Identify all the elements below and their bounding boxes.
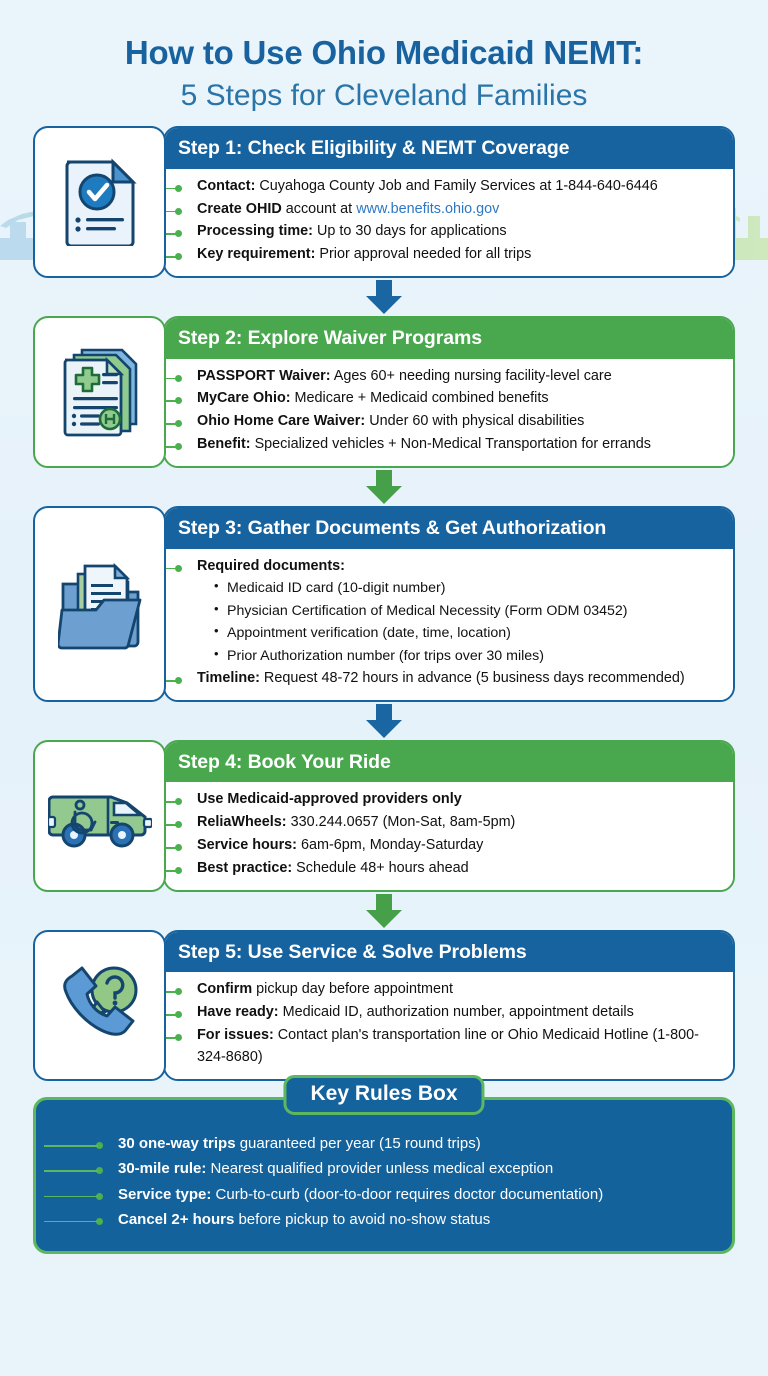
step-4-bullet-label: ReliaWheels:: [197, 814, 287, 830]
step-1-bullet-item: Processing time: Up to 30 days for appli…: [169, 221, 723, 243]
step-1-body: Contact: Cuyahoga County Job and Family …: [165, 169, 733, 277]
step-1-bullet-list: Contact: Cuyahoga County Job and Family …: [169, 176, 723, 267]
step-2-bullet-item: MyCare Ohio: Medicare + Medicaid combine…: [169, 388, 723, 410]
step-3-header: Step 3: Gather Documents & Get Authoriza…: [165, 508, 733, 548]
step-4-bullet-text: 6am-6pm, Monday-Saturday: [297, 837, 483, 853]
step-4-bullet-label: Use Medicaid-approved providers only: [197, 791, 462, 807]
key-rules-title: Key Rules Box: [283, 1075, 484, 1115]
step-1: Step 1: Check Eligibility & NEMT Coverag…: [33, 126, 735, 278]
step-4-body: Use Medicaid-approved providers onlyReli…: [165, 782, 733, 890]
step-5-bullet-label: Have ready:: [197, 1004, 279, 1020]
step-4-card: Step 4: Book Your RideUse Medicaid-appro…: [163, 740, 735, 892]
key-rules-bullet-list: 30 one-way trips guaranteed per year (15…: [50, 1132, 718, 1232]
step-2-bullet-label: MyCare Ohio:: [197, 390, 291, 406]
steps-list: Step 1: Check Eligibility & NEMT Coverag…: [0, 126, 768, 1081]
step-2-header: Step 2: Explore Waiver Programs: [165, 318, 733, 358]
step-5-bullet-label: For issues:: [197, 1027, 274, 1043]
step-1-bullet-label: Key requirement:: [197, 246, 315, 262]
key-rules-bullet-item: 30 one-way trips guaranteed per year (15…: [50, 1132, 718, 1156]
step-1-card: Step 1: Check Eligibility & NEMT Coverag…: [163, 126, 735, 278]
step-5-bullet-item: Have ready: Medicaid ID, authorization n…: [169, 1002, 723, 1024]
key-rules-bullet-label: 30 one-way trips: [118, 1135, 236, 1152]
step-2-bullet-item: Ohio Home Care Waiver: Under 60 with phy…: [169, 411, 723, 433]
step-3-bullet-list: Required documents:Medicaid ID card (10-…: [169, 556, 723, 691]
step-2-bullet-label: Benefit:: [197, 436, 251, 452]
sub-bullet-item: Prior Authorization number (for trips ov…: [214, 645, 723, 667]
document-check-icon: [63, 158, 137, 246]
arrow-step1-to-step2: [33, 278, 735, 316]
step-3-bullet-text: Request 48-72 hours in advance (5 busine…: [260, 670, 685, 686]
step-1-bullet-text: account at: [282, 201, 356, 217]
down-arrow-icon: [362, 894, 406, 928]
phone-question-icon: [57, 962, 143, 1048]
step-5-body: Confirm pickup day before appointmentHav…: [165, 972, 733, 1079]
step-4-icon-tile: [33, 740, 166, 892]
step-5-card: Step 5: Use Service & Solve ProblemsConf…: [163, 930, 735, 1081]
step-2-bullet-text: Under 60 with physical disabilities: [365, 413, 584, 429]
step-5-header: Step 5: Use Service & Solve Problems: [165, 932, 733, 972]
step-1-bullet-item: Contact: Cuyahoga County Job and Family …: [169, 176, 723, 198]
sub-bullet-item: Medicaid ID card (10-digit number): [214, 577, 723, 599]
step-1-header: Step 1: Check Eligibility & NEMT Coverag…: [165, 128, 733, 168]
key-rules-bullet-item: Service type: Curb-to-curb (door-to-door…: [50, 1183, 718, 1207]
page-subtitle: 5 Steps for Cleveland Families: [0, 76, 768, 115]
accessible-van-icon: [48, 781, 152, 851]
sub-bullet-list: Medicaid ID card (10-digit number)Physic…: [214, 577, 723, 667]
page-title-block: How to Use Ohio Medicaid NEMT: 5 Steps f…: [0, 0, 768, 115]
arrow-step4-to-step5: [33, 892, 735, 930]
step-2-card: Step 2: Explore Waiver ProgramsPASSPORT …: [163, 316, 735, 468]
key-rules-bullet-item: 30-mile rule: Nearest qualified provider…: [50, 1157, 718, 1181]
step-1-bullet-link[interactable]: www.benefits.ohio.gov: [356, 201, 499, 217]
step-5-bullet-list: Confirm pickup day before appointmentHav…: [169, 979, 723, 1069]
step-4-bullet-item: Service hours: 6am-6pm, Monday-Saturday: [169, 835, 723, 857]
step-4-bullet-text: Schedule 48+ hours ahead: [292, 860, 468, 876]
step-3-bullet-item: Required documents:Medicaid ID card (10-…: [169, 556, 723, 668]
step-3-bullet-label: Timeline:: [197, 670, 260, 686]
key-rules-bullet-text: Curb-to-curb (door-to-door requires doct…: [211, 1186, 603, 1203]
step-5-bullet-text: Medicaid ID, authorization number, appoi…: [279, 1004, 634, 1020]
down-arrow-icon: [362, 704, 406, 738]
step-2-bullet-text: Ages 60+ needing nursing facility-level …: [331, 368, 612, 384]
step-4-bullet-item: ReliaWheels: 330.244.0657 (Mon-Sat, 8am-…: [169, 812, 723, 834]
step-4-bullet-label: Service hours:: [197, 837, 297, 853]
step-2-bullet-item: PASSPORT Waiver: Ages 60+ needing nursin…: [169, 366, 723, 388]
step-1-icon-tile: [33, 126, 166, 278]
step-1-bullet-label: Processing time:: [197, 223, 313, 239]
step-1-bullet-item: Key requirement: Prior approval needed f…: [169, 244, 723, 266]
step-2: Step 2: Explore Waiver ProgramsPASSPORT …: [33, 316, 735, 468]
key-rules-bullet-item: Cancel 2+ hours before pickup to avoid n…: [50, 1208, 718, 1232]
step-4-bullet-label: Best practice:: [197, 860, 292, 876]
down-arrow-icon: [362, 280, 406, 314]
step-2-body: PASSPORT Waiver: Ages 60+ needing nursin…: [165, 359, 733, 467]
arrow-step2-to-step3: [33, 468, 735, 506]
key-rules-bullet-text: Nearest qualified provider unless medica…: [206, 1160, 553, 1177]
step-2-bullet-list: PASSPORT Waiver: Ages 60+ needing nursin…: [169, 366, 723, 457]
step-4-bullet-item: Best practice: Schedule 48+ hours ahead: [169, 858, 723, 880]
step-5-bullet-item: Confirm pickup day before appointment: [169, 979, 723, 1001]
step-5-bullet-label: Confirm: [197, 981, 252, 997]
key-rules-section: Key Rules Box 30 one-way trips guarantee…: [33, 1097, 735, 1254]
step-4-bullet-item: Use Medicaid-approved providers only: [169, 789, 723, 811]
step-2-bullet-label: PASSPORT Waiver:: [197, 368, 331, 384]
step-2-bullet-text: Specialized vehicles + Non-Medical Trans…: [251, 436, 651, 452]
folder-documents-icon: [58, 556, 142, 652]
step-1-bullet-label: Create OHID: [197, 201, 282, 217]
step-5-bullet-item: For issues: Contact plan's transportatio…: [169, 1025, 723, 1069]
step-3-bullet-label: Required documents:: [197, 558, 345, 574]
step-2-icon-tile: [33, 316, 166, 468]
step-1-bullet-label: Contact:: [197, 178, 255, 194]
step-1-bullet-text: Prior approval needed for all trips: [315, 246, 531, 262]
step-2-bullet-text: Medicare + Medicaid combined benefits: [291, 390, 549, 406]
step-3-bullet-item: Timeline: Request 48-72 hours in advance…: [169, 668, 723, 690]
step-5: Step 5: Use Service & Solve ProblemsConf…: [33, 930, 735, 1081]
step-4-header: Step 4: Book Your Ride: [165, 742, 733, 782]
step-3: Step 3: Gather Documents & Get Authoriza…: [33, 506, 735, 702]
step-3-card: Step 3: Gather Documents & Get Authoriza…: [163, 506, 735, 702]
step-5-icon-tile: [33, 930, 166, 1081]
medical-documents-icon: [60, 347, 140, 437]
page-title: How to Use Ohio Medicaid NEMT:: [0, 34, 768, 72]
step-5-bullet-text: pickup day before appointment: [252, 981, 453, 997]
step-2-bullet-item: Benefit: Specialized vehicles + Non-Medi…: [169, 434, 723, 456]
step-4-bullet-text: 330.244.0657 (Mon-Sat, 8am-5pm): [287, 814, 516, 830]
sub-bullet-item: Appointment verification (date, time, lo…: [214, 622, 723, 644]
key-rules-bullet-label: Cancel 2+ hours: [118, 1211, 234, 1228]
key-rules-bullet-label: Service type:: [118, 1186, 211, 1203]
step-2-bullet-label: Ohio Home Care Waiver:: [197, 413, 365, 429]
step-3-body: Required documents:Medicaid ID card (10-…: [165, 549, 733, 701]
key-rules-box: 30 one-way trips guaranteed per year (15…: [33, 1097, 735, 1254]
step-1-bullet-text: Up to 30 days for applications: [313, 223, 507, 239]
key-rules-bullet-label: 30-mile rule:: [118, 1160, 206, 1177]
down-arrow-icon: [362, 470, 406, 504]
key-rules-bullet-text: before pickup to avoid no-show status: [234, 1211, 490, 1228]
key-rules-bullet-text: guaranteed per year (15 round trips): [236, 1135, 481, 1152]
step-1-bullet-item: Create OHID account at www.benefits.ohio…: [169, 199, 723, 221]
arrow-step3-to-step4: [33, 702, 735, 740]
step-4: Step 4: Book Your RideUse Medicaid-appro…: [33, 740, 735, 892]
sub-bullet-item: Physician Certification of Medical Neces…: [214, 600, 723, 622]
step-4-bullet-list: Use Medicaid-approved providers onlyReli…: [169, 789, 723, 880]
step-3-icon-tile: [33, 506, 166, 702]
step-1-bullet-text: Cuyahoga County Job and Family Services …: [255, 178, 657, 194]
